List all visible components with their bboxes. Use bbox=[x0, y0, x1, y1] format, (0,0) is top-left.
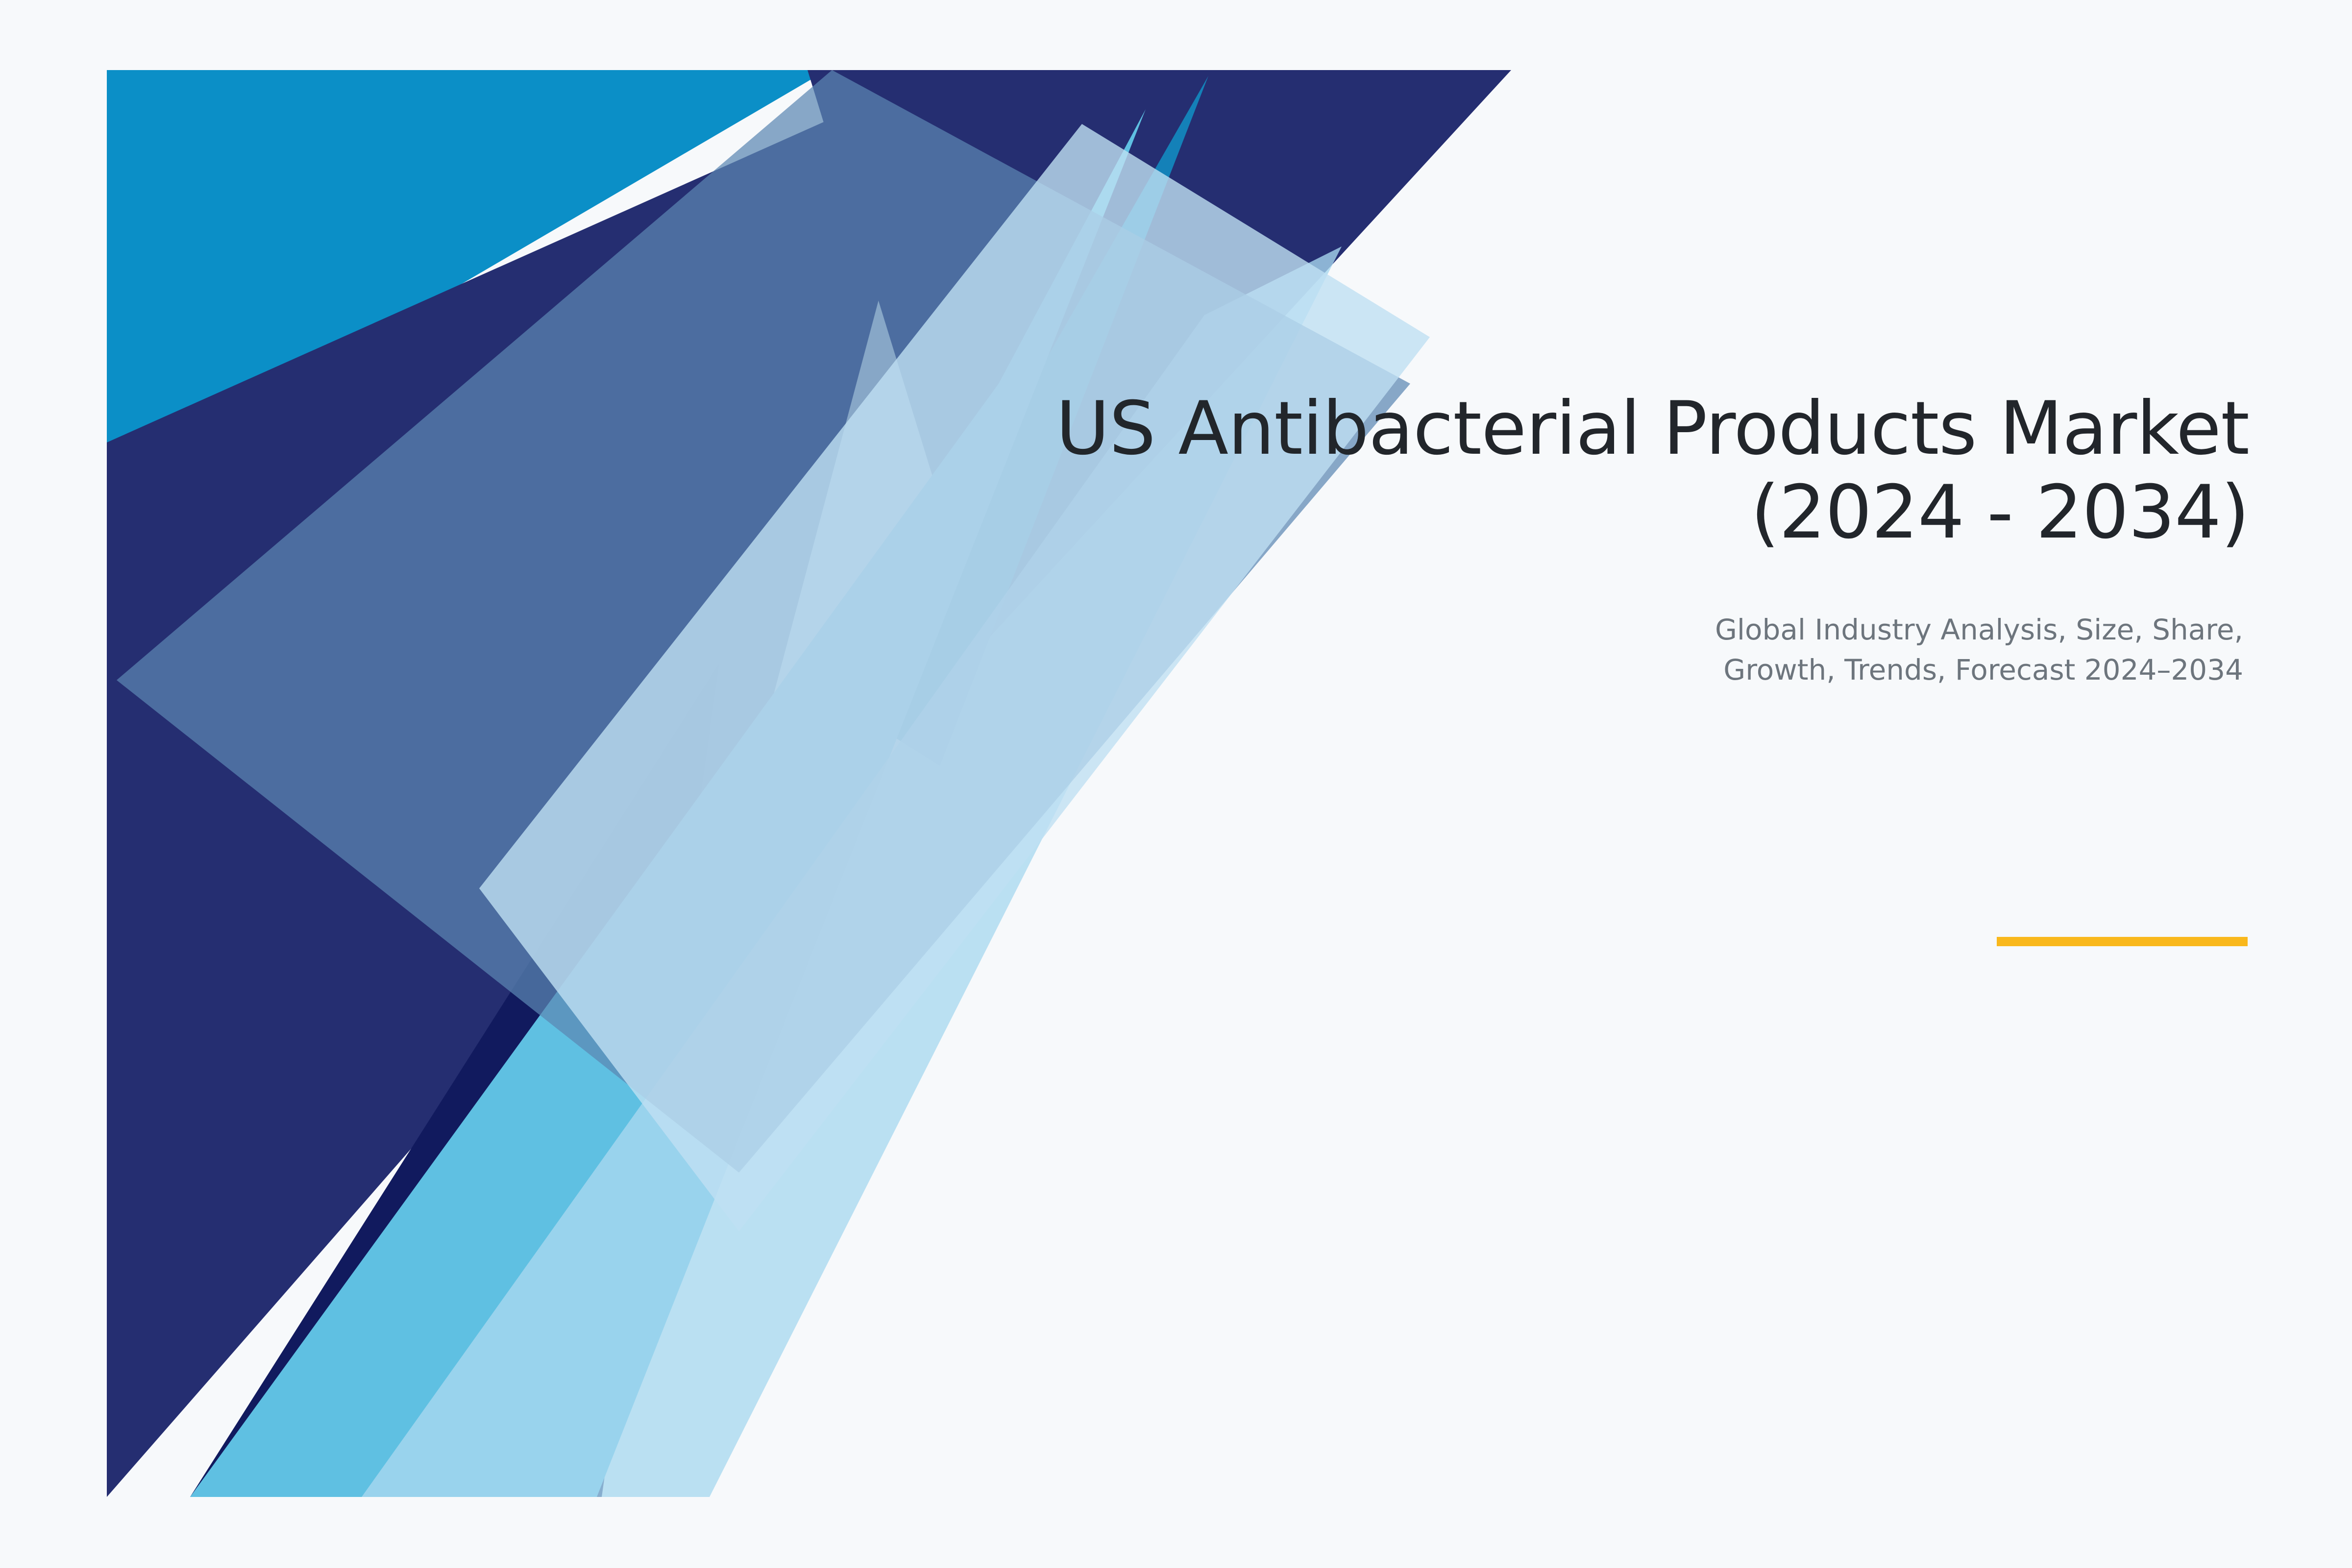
title-underline-accent bbox=[1997, 937, 2248, 946]
cover-text-block: US Antibacterial Products Market (2024 -… bbox=[975, 387, 2249, 690]
page-subtitle: Global Industry Analysis, Size, Share, G… bbox=[975, 610, 2243, 690]
report-cover-page: US Antibacterial Products Market (2024 -… bbox=[0, 0, 2352, 1568]
abstract-polygon-cover-graphic bbox=[107, 70, 1511, 1497]
page-title: US Antibacterial Products Market (2024 -… bbox=[975, 387, 2249, 555]
